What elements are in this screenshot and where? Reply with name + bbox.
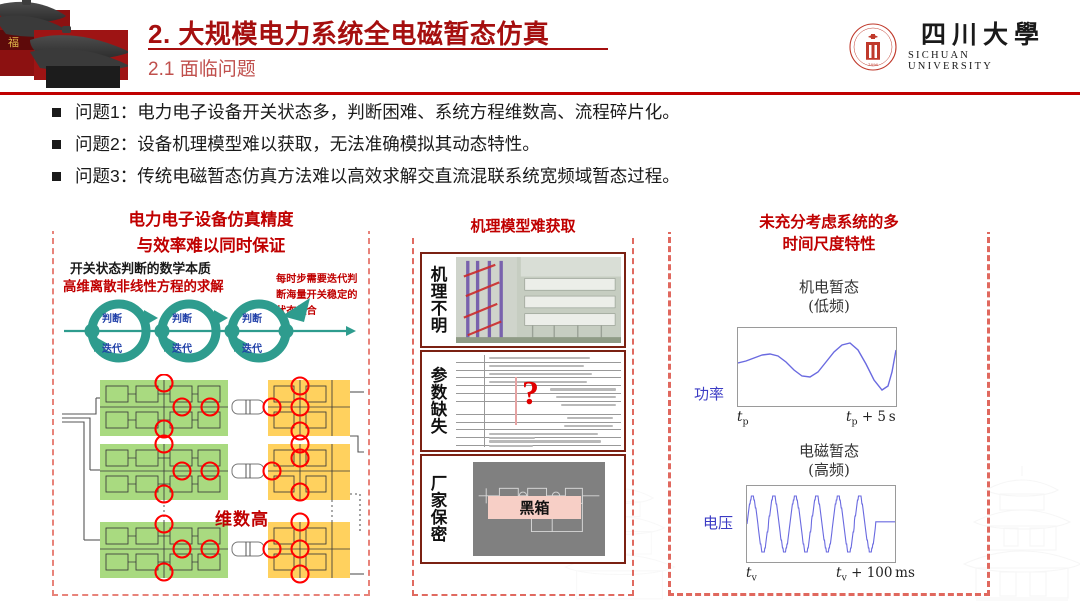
- chart-2-caption-line2: (高频): [668, 461, 990, 479]
- table-row: [456, 355, 621, 363]
- high-dimension-label: 维数高: [215, 505, 269, 530]
- parameter-missing-box: 参 数 缺 失 ?: [420, 350, 626, 452]
- flow-label-iterate-1: 迭代: [102, 340, 122, 355]
- header-divider: [0, 92, 1080, 95]
- chart-1-caption-line2: (低频): [668, 297, 990, 315]
- panel-right-title-line1: 未充分考虑系统的多: [668, 210, 990, 232]
- manufacturer-confidential-box: 厂 家 保 密: [420, 454, 626, 564]
- parameter-table-image: ?: [456, 355, 621, 447]
- chart-1-trace: [738, 328, 896, 406]
- university-logo: 1896 四川大學 SICHUAN UNIVERSITY: [848, 18, 1058, 76]
- flow-label-iterate-3: 迭代: [242, 340, 262, 355]
- table-bracket-line: [515, 377, 517, 425]
- blackbox-wrapper: 黑箱: [456, 459, 621, 559]
- university-seal-icon: 1896: [848, 22, 898, 72]
- logo-english-name: SICHUAN UNIVERSITY: [908, 51, 1058, 72]
- list-item: 问题2：设备机理模型难以获取，无法准确模拟其动态特性。: [52, 133, 1032, 156]
- bullet-text: 问题2：设备机理模型难以获取，无法准确模拟其动态特性。: [75, 133, 540, 156]
- panel-mid-title: 机理模型难获取: [412, 215, 634, 236]
- bullet-square-icon: [52, 108, 61, 117]
- panel-right-title-line2: 时间尺度特性: [668, 232, 990, 254]
- chart-1-xtick-start: tp: [737, 409, 749, 428]
- iteration-flow-diagram: 判断 判断 判断 迭代 迭代 迭代: [58, 296, 358, 364]
- blurred-parameter-table: ?: [456, 355, 621, 447]
- manufacturer-confidential-label: 厂 家 保 密: [422, 456, 456, 562]
- page-subtitle: 2.1 面临问题: [148, 54, 256, 81]
- list-item: 问题3：传统电磁暂态仿真方法难以高效求解交直流混联系统宽频域暂态过程。: [52, 165, 1032, 188]
- bullet-square-icon: [52, 172, 61, 181]
- logo-wordmark: 四川大學 SICHUAN UNIVERSITY: [908, 22, 1058, 72]
- table-row: [456, 446, 621, 447]
- chart-2-xtick-end: tv + 100 ms: [836, 565, 915, 584]
- table-row: [456, 430, 621, 438]
- table-row: [456, 423, 621, 431]
- parameter-missing-label: 参 数 缺 失: [422, 352, 456, 450]
- bullet-square-icon: [52, 140, 61, 149]
- list-item: 问题1：电力电子设备开关状态多，判断困难、系统方程维数高、流程碎片化。: [52, 101, 1032, 124]
- table-row: [456, 438, 621, 446]
- flow-label-judge-2: 判断: [172, 310, 192, 325]
- converter-circuit-diagram: [60, 374, 366, 592]
- chart-1-xtick-end: tp + 5 s: [846, 409, 896, 428]
- chart-1-frame: [737, 327, 897, 407]
- flow-label-iterate-2: 迭代: [172, 340, 192, 355]
- grey-block-diagram: 黑箱: [473, 462, 605, 556]
- svg-text:1896: 1896: [868, 62, 879, 67]
- bullet-text: 问题1：电力电子设备开关状态多，判断困难、系统方程维数高、流程碎片化。: [75, 101, 680, 124]
- page-title: 2. 大规模电力系统全电磁暂态仿真: [148, 14, 549, 51]
- panel-left-title-line2: 与效率难以同时保证: [52, 232, 370, 256]
- table-row: [456, 363, 621, 371]
- mechanism-unclear-box: 机 理 不 明: [420, 252, 626, 348]
- question-mark-overlay: ?: [522, 375, 539, 413]
- logo-chinese-name: 四川大學: [921, 22, 1045, 47]
- chart-2-xtick-start: tv: [746, 565, 757, 584]
- chart-2-caption-line1: 电磁暂态: [668, 442, 990, 460]
- control-block-diagram-image: 黑箱: [456, 459, 621, 559]
- title-underline: [148, 48, 608, 50]
- bullet-text: 问题3：传统电磁暂态仿真方法难以高效求解交直流混联系统宽频域暂态过程。: [75, 165, 680, 188]
- chart-1-caption-line1: 机电暂态: [668, 278, 990, 296]
- temple-roof-decoration: 福: [0, 0, 128, 92]
- chart-2-trace: [747, 486, 895, 562]
- panel-left-title-line1: 电力电子设备仿真精度: [52, 210, 370, 231]
- chart-2-ylabel: 电压: [703, 512, 733, 533]
- converter-valve-hall-photo: [456, 257, 621, 343]
- slide-root: 福 2. 大规模电力系统全电磁暂态仿真 2.1 面临问题 1896 四川大學: [0, 0, 1080, 608]
- mechanism-unclear-label: 机 理 不 明: [422, 254, 456, 346]
- svg-text:福: 福: [8, 35, 19, 49]
- bullet-list: 问题1：电力电子设备开关状态多，判断困难、系统方程维数高、流程碎片化。 问题2：…: [52, 101, 1032, 197]
- panel-left-subtitle-red: 高维离散非线性方程的求解: [63, 275, 224, 295]
- black-box-label: 黑箱: [488, 496, 580, 520]
- table-row: [456, 415, 621, 423]
- flow-label-judge-1: 判断: [102, 310, 122, 325]
- chart-2-frame: [746, 485, 896, 563]
- chart-1-ylabel: 功率: [694, 383, 724, 404]
- flow-label-judge-3: 判断: [242, 310, 262, 325]
